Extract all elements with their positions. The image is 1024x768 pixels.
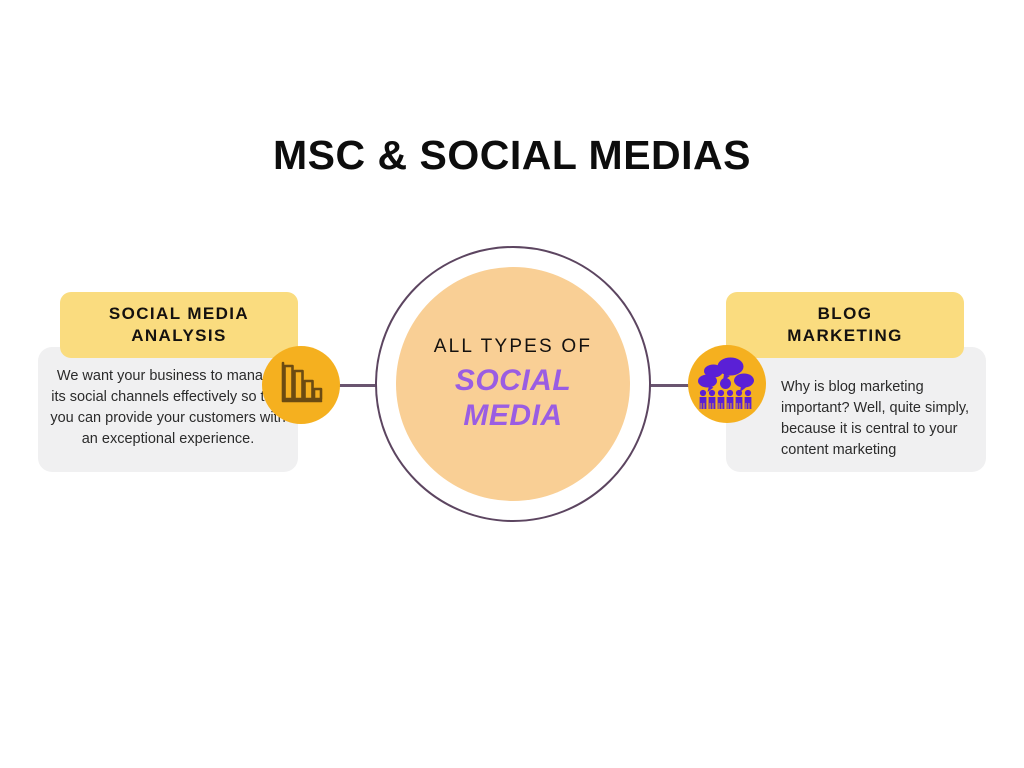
panel-left-header-line2: ANALYSIS [131, 326, 227, 345]
bar-chart-icon-badge[interactable] [262, 346, 340, 424]
panel-right-header-line1: BLOG [818, 304, 873, 323]
audience-speech-bubbles-icon [697, 354, 757, 415]
audience-speech-bubbles-icon-badge[interactable] [688, 345, 766, 423]
center-headline-line1: SOCIAL [455, 364, 571, 397]
panel-right-header: BLOG MARKETING [726, 292, 964, 358]
page-title: MSC & SOCIAL MEDIAS [0, 133, 1024, 178]
center-headline-line2: MEDIA [463, 399, 562, 432]
panel-left-body-text: We want your business to manage its soci… [50, 366, 286, 451]
panel-left-header-line1: SOCIAL MEDIA [109, 304, 249, 323]
bar-chart-icon [275, 357, 327, 414]
panel-left-header: SOCIAL MEDIA ANALYSIS [60, 292, 298, 358]
center-headline-text: SOCIAL MEDIA [455, 364, 571, 433]
panel-right-header-line2: MARKETING [787, 326, 903, 345]
panel-right-header-text: BLOG MARKETING [787, 303, 903, 348]
slide-canvas: MSC & SOCIAL MEDIAS We want your busines… [0, 0, 1024, 768]
center-eyebrow-text: ALL TYPES OF [434, 335, 592, 359]
panel-right-body-text: Why is blog marketing important? Well, q… [781, 377, 971, 462]
center-circle[interactable]: ALL TYPES OF SOCIAL MEDIA [396, 267, 630, 501]
panel-left-header-text: SOCIAL MEDIA ANALYSIS [109, 303, 249, 348]
